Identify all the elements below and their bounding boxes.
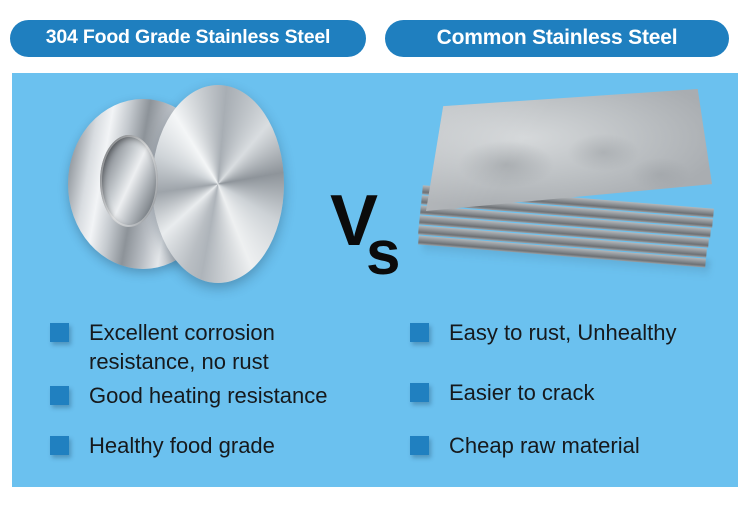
pill-right-label: Common Stainless Steel [437, 26, 678, 50]
versus-mark: V s [330, 185, 430, 290]
list-item: Good heating resistance [50, 381, 390, 410]
list-item: Cheap raw material [410, 431, 740, 460]
stainless-steel-coil-image [60, 81, 290, 289]
list-item-label: Excellent corrosion resistance, no rust [89, 318, 275, 376]
list-item-label: Healthy food grade [89, 431, 275, 460]
stacked-steel-plates-image [418, 89, 718, 285]
list-item: Easier to crack [410, 378, 740, 407]
pill-common-stainless-steel[interactable]: Common Stainless Steel [385, 20, 729, 57]
list-item-label: Easy to rust, Unhealthy [449, 318, 676, 347]
product-image-row: V s [12, 73, 738, 301]
list-item: Easy to rust, Unhealthy [410, 318, 740, 347]
list-item-label: Good heating resistance [89, 381, 328, 410]
coil-bore-rim [100, 135, 158, 227]
bullet-square-icon [410, 436, 429, 455]
coil-face [152, 85, 284, 283]
bullet-square-icon [50, 436, 69, 455]
pill-left-label: 304 Food Grade Stainless Steel [46, 26, 330, 49]
versus-s-letter: s [366, 223, 400, 285]
list-item-label: Easier to crack [449, 378, 595, 407]
header-pill-row: 304 Food Grade Stainless Steel Common St… [0, 0, 750, 73]
list-item-label: Cheap raw material [449, 431, 640, 460]
bullet-square-icon [410, 323, 429, 342]
bullet-square-icon [50, 386, 69, 405]
bullet-square-icon [410, 383, 429, 402]
pill-304-food-grade-stainless-steel[interactable]: 304 Food Grade Stainless Steel [10, 20, 366, 57]
comparison-panel: V s Excellent corrosion resistance, no r… [12, 73, 738, 487]
feature-columns: Excellent corrosion resistance, no rust … [12, 305, 738, 487]
plate-top-surface [426, 89, 712, 211]
bullet-square-icon [50, 323, 69, 342]
list-item: Excellent corrosion resistance, no rust [50, 318, 380, 376]
feature-column-common: Easy to rust, Unhealthy Easier to crack … [390, 305, 750, 487]
list-item: Healthy food grade [50, 431, 380, 460]
feature-column-304: Excellent corrosion resistance, no rust … [30, 305, 390, 487]
